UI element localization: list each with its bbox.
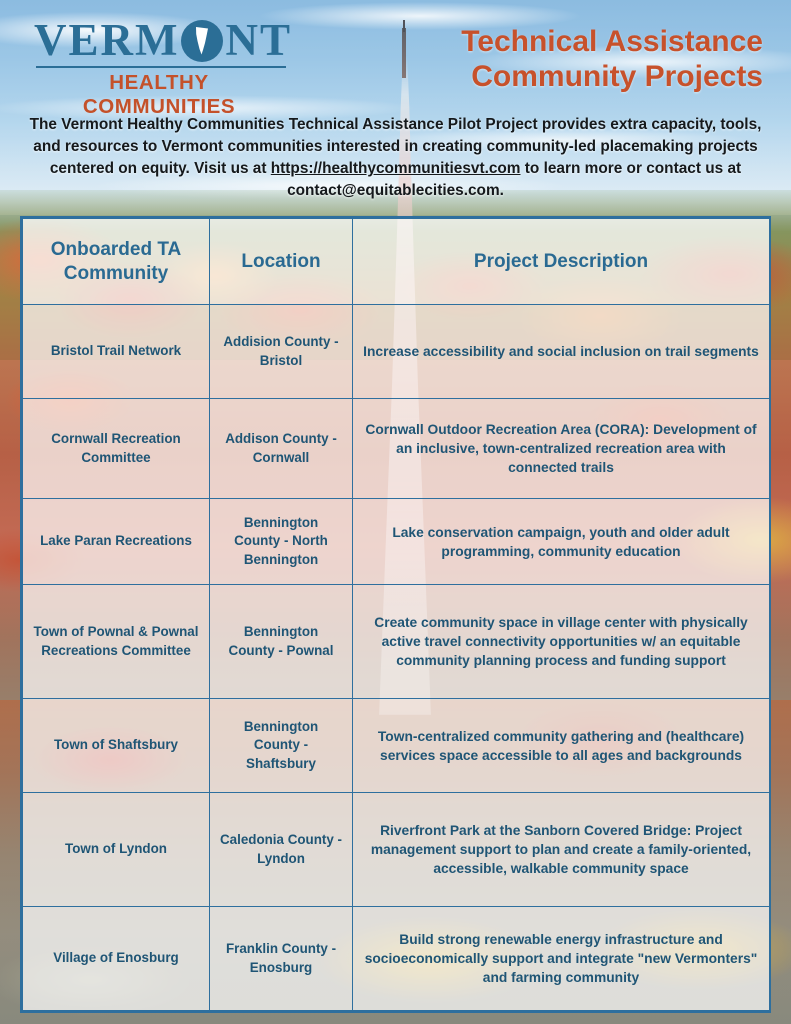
table-row: Lake Paran Recreations Bennington County… [23, 499, 770, 585]
logo-wordmark: VERM NT [34, 18, 292, 63]
cell-location: Bennington County - North Bennington [210, 499, 353, 585]
column-header-community: Onboarded TA Community [23, 219, 210, 305]
table-row: Cornwall Recreation Committee Addison Co… [23, 399, 770, 499]
vermont-state-outline-icon [181, 20, 223, 62]
healthy-communities-website-link[interactable]: https://healthycommunitiesvt.com [271, 160, 521, 177]
cell-description: Build strong renewable energy infrastruc… [353, 907, 770, 1011]
table-header-row: Onboarded TA Community Location Project … [23, 219, 770, 305]
ta-community-projects-table: Onboarded TA Community Location Project … [20, 216, 771, 1013]
page-header: VERM NT HEALTHY COMMUNITIES Technical As… [0, 0, 791, 108]
cell-community: Village of Enosburg [23, 907, 210, 1011]
cell-description: Increase accessibility and social inclus… [353, 305, 770, 399]
cell-community: Town of Shaftsbury [23, 699, 210, 793]
cell-location: Addision County - Bristol [210, 305, 353, 399]
cell-community: Cornwall Recreation Committee [23, 399, 210, 499]
cell-location: Caledonia County - Lyndon [210, 793, 353, 907]
cell-description: Cornwall Outdoor Recreation Area (CORA):… [353, 399, 770, 499]
logo-wordmark-before: VERM [34, 18, 179, 63]
cell-location: Bennington County - Shaftsbury [210, 699, 353, 793]
table-row: Village of Enosburg Franklin County - En… [23, 907, 770, 1011]
column-header-community-line-1: Onboarded TA [32, 238, 200, 262]
logo-wordmark-after: NT [225, 18, 292, 63]
table-row: Bristol Trail Network Addision County - … [23, 305, 770, 399]
column-header-location: Location [210, 219, 353, 305]
table-row: Town of Shaftsbury Bennington County - S… [23, 699, 770, 793]
cell-community: Town of Pownal & Pownal Recreations Comm… [23, 585, 210, 699]
cell-description: Create community space in village center… [353, 585, 770, 699]
cell-description: Riverfront Park at the Sanborn Covered B… [353, 793, 770, 907]
vermont-healthy-communities-logo: VERM NT HEALTHY COMMUNITIES [34, 12, 292, 119]
cell-description: Lake conservation campaign, youth and ol… [353, 499, 770, 585]
logo-tagline: HEALTHY COMMUNITIES [34, 71, 284, 119]
table-row: Town of Lyndon Caledonia County - Lyndon… [23, 793, 770, 907]
cell-location: Franklin County - Enosburg [210, 907, 353, 1011]
logo-divider-rule [36, 66, 286, 68]
page-title: Technical Assistance Community Projects [461, 12, 769, 94]
cell-description: Town-centralized community gathering and… [353, 699, 770, 793]
cell-community: Town of Lyndon [23, 793, 210, 907]
page-title-line-1: Technical Assistance [461, 24, 763, 59]
intro-paragraph: The Vermont Healthy Communities Technica… [28, 114, 763, 202]
cell-community: Bristol Trail Network [23, 305, 210, 399]
cell-location: Addison County - Cornwall [210, 399, 353, 499]
column-header-community-line-2: Community [32, 262, 200, 286]
cell-community: Lake Paran Recreations [23, 499, 210, 585]
column-header-description: Project Description [353, 219, 770, 305]
table-row: Town of Pownal & Pownal Recreations Comm… [23, 585, 770, 699]
table-body: Bristol Trail Network Addision County - … [23, 305, 770, 1011]
page-title-line-2: Community Projects [461, 59, 763, 94]
cell-location: Bennington County - Pownal [210, 585, 353, 699]
